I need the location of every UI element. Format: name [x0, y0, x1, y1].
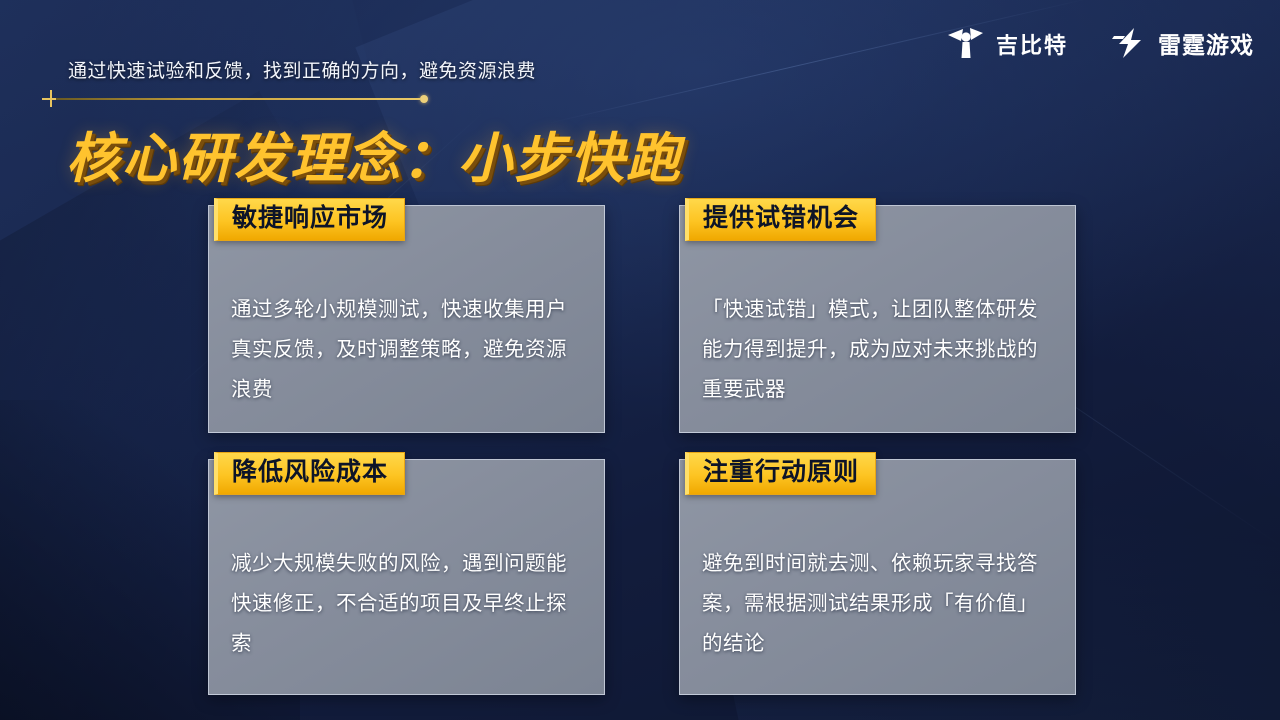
content-card-action-principle: 注重行动原则 避免到时间就去测、依赖玩家寻找答案，需根据测试结果形成「有价值」的…	[679, 459, 1076, 695]
card-badge-title: 注重行动原则	[685, 452, 876, 495]
card-badge-title: 提供试错机会	[685, 198, 876, 241]
brand-logo-group: 吉比特 雷霆游戏	[946, 26, 1254, 65]
card-body-text: 通过多轮小规模测试，快速收集用户真实反馈，及时调整策略，避免资源浪费	[231, 290, 584, 410]
content-card-agile-market: 敏捷响应市场 通过多轮小规模测试，快速收集用户真实反馈，及时调整策略，避免资源浪…	[208, 205, 605, 433]
divider-end-dot	[420, 95, 428, 103]
card-body-text: 减少大规模失败的风险，遇到问题能快速修正，不合适的项目及早终止探索	[231, 544, 584, 664]
slide-subtitle: 通过快速试验和反馈，找到正确的方向，避免资源浪费	[68, 56, 536, 83]
logo-thunder: 雷霆游戏	[1112, 27, 1254, 64]
page-title: 核心研发理念：小步快跑	[66, 114, 682, 193]
content-card-trial-error: 提供试错机会 「快速试错」模式，让团队整体研发能力得到提升，成为应对未来挑战的重…	[679, 205, 1076, 433]
gbits-pinwheel-icon	[946, 26, 986, 65]
card-body-text: 避免到时间就去测、依赖玩家寻找答案，需根据测试结果形成「有价值」的结论	[702, 544, 1055, 664]
card-badge-title: 敏捷响应市场	[214, 198, 405, 241]
logo-gbits-label: 吉比特	[996, 35, 1068, 57]
card-body-text: 「快速试错」模式，让团队整体研发能力得到提升，成为应对未来挑战的重要武器	[702, 290, 1055, 410]
thunder-bolt-icon	[1112, 27, 1148, 64]
header-divider-rule	[48, 97, 426, 100]
content-card-lower-risk: 降低风险成本 减少大规模失败的风险，遇到问题能快速修正，不合适的项目及早终止探索	[208, 459, 605, 695]
logo-thunder-label: 雷霆游戏	[1158, 34, 1254, 57]
slide-canvas: 吉比特 雷霆游戏 通过快速试验和反馈，找到正确的方向，避免资源浪费 核心研发理念…	[0, 0, 1280, 720]
content-card-grid: 敏捷响应市场 通过多轮小规模测试，快速收集用户真实反馈，及时调整策略，避免资源浪…	[208, 205, 1076, 695]
card-badge-title: 降低风险成本	[214, 452, 405, 495]
logo-gbits: 吉比特	[946, 26, 1068, 65]
divider-bar	[56, 98, 420, 100]
